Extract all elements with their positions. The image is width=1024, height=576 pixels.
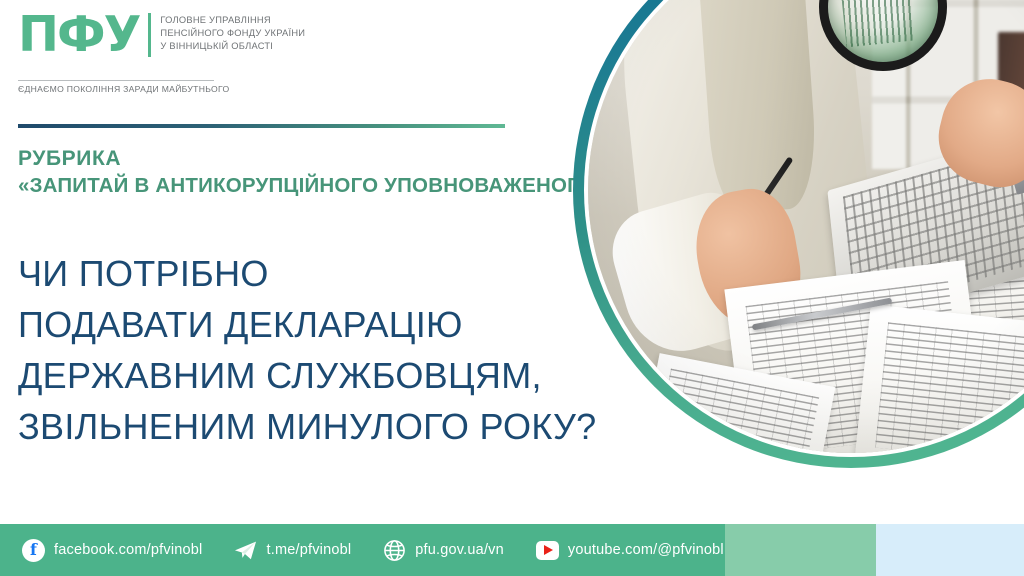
brand-tagline: ЄДНАЄМО ПОКОЛІННЯ ЗАРАДИ МАЙБУТНЬОГО <box>18 84 229 94</box>
organisation-name: ГОЛОВНЕ УПРАВЛІННЯ ПЕНСІЙНОГО ФОНДУ УКРА… <box>160 8 305 54</box>
pfu-logo-wordmark: ПФУ <box>18 10 139 60</box>
footer-band-accent <box>876 524 1024 576</box>
headline-line-4: ЗВІЛЬНЕНИМ МИНУЛОГО РОКУ? <box>18 401 618 452</box>
brand-header: ПФУ ГОЛОВНЕ УПРАВЛІННЯ ПЕНСІЙНОГО ФОНДУ … <box>18 8 558 104</box>
social-link-youtube-label: youtube.com/@pfvinobl <box>568 542 724 558</box>
social-link-website[interactable]: pfu.gov.ua/vn <box>383 539 504 562</box>
organisation-line-3: У ВІННИЦЬКІЙ ОБЛАСТІ <box>160 40 305 53</box>
social-link-website-label: pfu.gov.ua/vn <box>415 542 504 558</box>
rubric-label: РУБРИКА <box>18 146 578 172</box>
social-link-facebook-label: facebook.com/pfvinobl <box>54 542 202 558</box>
logo-row: ПФУ ГОЛОВНЕ УПРАВЛІННЯ ПЕНСІЙНОГО ФОНДУ … <box>18 8 558 60</box>
social-link-facebook[interactable]: f facebook.com/pfvinobl <box>22 539 202 562</box>
social-link-youtube[interactable]: youtube.com/@pfvinobl <box>536 539 724 562</box>
section-divider-gradient <box>18 124 505 128</box>
photo-inner-border <box>584 0 1024 457</box>
globe-icon <box>383 539 406 562</box>
footer-band-secondary <box>725 524 876 576</box>
youtube-icon <box>536 539 559 562</box>
organisation-line-2: ПЕНСІЙНОГО ФОНДУ УКРАЇНИ <box>160 27 305 40</box>
facebook-icon: f <box>22 539 45 562</box>
rubric-title: «ЗАПИТАЙ В АНТИКОРУПЦІЙНОГО УПОВНОВАЖЕНО… <box>18 172 578 199</box>
logo-divider <box>148 13 151 57</box>
headline-line-1: ЧИ ПОТРІБНО <box>18 248 618 299</box>
social-link-telegram-label: t.me/pfvinobl <box>266 542 351 558</box>
headline-line-2: ПОДАВАТИ ДЕКЛАРАЦІЮ <box>18 299 618 350</box>
headline-block: ЧИ ПОТРІБНО ПОДАВАТИ ДЕКЛАРАЦІЮ ДЕРЖАВНИ… <box>18 248 618 452</box>
footer-bar: f facebook.com/pfvinobl t.me/pfvinobl <box>0 524 1024 576</box>
organisation-line-1: ГОЛОВНЕ УПРАВЛІННЯ <box>160 14 305 27</box>
photo-vignette <box>588 0 1024 453</box>
rubric-block: РУБРИКА «ЗАПИТАЙ В АНТИКОРУПЦІЙНОГО УПОВ… <box>18 146 578 199</box>
headline-line-3: ДЕРЖАВНИМ СЛУЖБОВЦЯМ, <box>18 350 618 401</box>
social-link-telegram[interactable]: t.me/pfvinobl <box>234 539 351 562</box>
photo-document-inspection <box>588 0 1024 453</box>
poster-canvas: ПФУ ГОЛОВНЕ УПРАВЛІННЯ ПЕНСІЙНОГО ФОНДУ … <box>0 0 1024 576</box>
tagline-divider <box>18 80 214 81</box>
telegram-icon <box>234 539 257 562</box>
social-links: f facebook.com/pfvinobl t.me/pfvinobl <box>22 524 724 576</box>
photo-ring <box>573 0 1024 468</box>
